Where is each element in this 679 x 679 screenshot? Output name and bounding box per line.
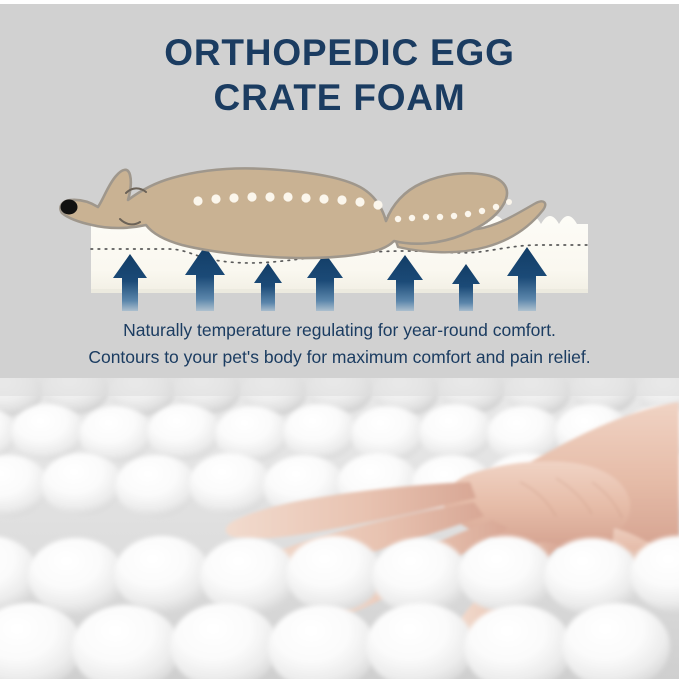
illustration-dog-on-foam — [0, 129, 679, 314]
page-title-line-2: CRATE FOAM — [0, 75, 679, 120]
benefit-text: Naturally temperature regulating for yea… — [0, 317, 679, 371]
egg-crate-foam-surface — [0, 378, 679, 679]
product-photo — [0, 378, 679, 679]
benefit-line-1: Naturally temperature regulating for yea… — [0, 317, 679, 344]
dog-nose — [61, 200, 78, 215]
infographic-page: ORTHOPEDIC EGG CRATE FOAM — [0, 0, 679, 679]
page-title-line-1: ORTHOPEDIC EGG — [164, 32, 514, 73]
foam-bump-row-front — [0, 536, 679, 614]
benefit-line-2: Contours to your pet's body for maximum … — [0, 344, 679, 371]
info-panel: ORTHOPEDIC EGG CRATE FOAM — [0, 4, 679, 378]
page-title: ORTHOPEDIC EGG CRATE FOAM — [0, 30, 679, 120]
